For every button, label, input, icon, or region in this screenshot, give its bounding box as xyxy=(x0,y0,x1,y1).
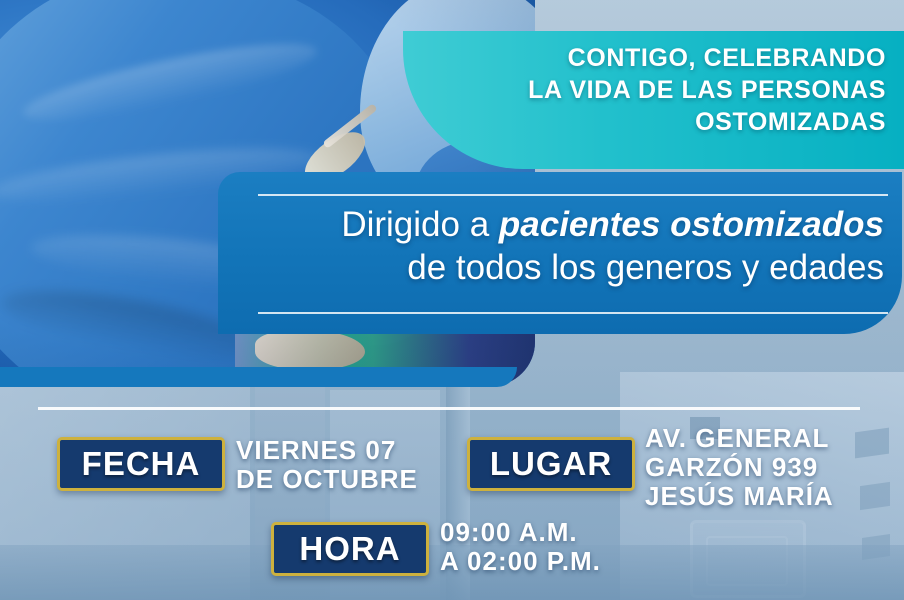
value-lugar-line-3: JESÚS MARÍA xyxy=(645,482,895,511)
subtitle-rule-bottom xyxy=(258,312,888,314)
badge-hora: HORA xyxy=(271,522,429,576)
value-fecha-line-2: DE OCTUBRE xyxy=(236,465,466,494)
value-hora: 09:00 A.M. A 02:00 P.M. xyxy=(440,518,690,576)
badge-fecha: FECHA xyxy=(57,437,225,491)
value-hora-line-2: A 02:00 P.M. xyxy=(440,547,690,576)
photo-bottom-blue-bar xyxy=(0,367,517,387)
value-fecha-line-1: VIERNES 07 xyxy=(236,436,466,465)
value-lugar-line-2: GARZÓN 939 xyxy=(645,453,895,482)
subtitle-line-1: Dirigido a pacientes ostomizados xyxy=(244,204,884,247)
headline-line-2: LA VIDA DE LAS PERSONAS xyxy=(446,74,886,106)
subtitle-line-1-emphasis: pacientes ostomizados xyxy=(499,205,884,244)
value-hora-line-1: 09:00 A.M. xyxy=(440,518,690,547)
headline-line-1: CONTIGO, CELEBRANDO xyxy=(446,42,886,74)
poster-canvas: DE SALUD CONTIGO, CELEBRANDO LA VIDA DE … xyxy=(0,0,904,600)
white-divider-line xyxy=(38,407,860,410)
badge-lugar: LUGAR xyxy=(467,437,635,491)
top-title-partial: DE SALUD xyxy=(468,0,888,6)
headline-text-block: CONTIGO, CELEBRANDO LA VIDA DE LAS PERSO… xyxy=(446,42,886,138)
subtitle-rule-top xyxy=(258,194,888,196)
subtitle-text-block: Dirigido a pacientes ostomizados de todo… xyxy=(244,204,884,289)
value-lugar: AV. GENERAL GARZÓN 939 JESÚS MARÍA xyxy=(645,424,895,511)
value-lugar-line-1: AV. GENERAL xyxy=(645,424,895,453)
subtitle-line-1-prefix: Dirigido a xyxy=(341,205,499,244)
headline-line-3: OSTOMIZADAS xyxy=(446,106,886,138)
subtitle-line-2: de todos los generos y edades xyxy=(244,247,884,290)
value-fecha: VIERNES 07 DE OCTUBRE xyxy=(236,436,466,494)
